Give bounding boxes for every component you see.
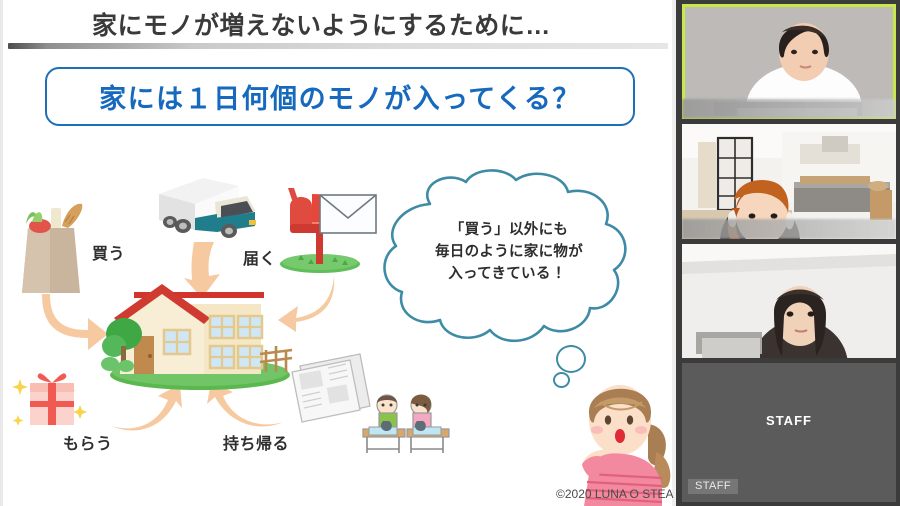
bubble-line-3: 入ってきている ！ [378, 264, 640, 286]
video-tile-participant-2[interactable] [682, 124, 896, 239]
question-text: 家には１日何個のモノが入ってくる？ [99, 77, 581, 116]
label-deliver: 届く [243, 245, 276, 269]
placeholder-center-label: STAFF [766, 413, 812, 428]
school-desk-children-illustration [355, 383, 457, 455]
video-tile-participant-3[interactable] [682, 244, 896, 359]
placeholder-name-badge: STAFF [688, 479, 738, 494]
label-receive: もらう [63, 430, 113, 454]
participant-1-name-blur [682, 99, 896, 119]
grocery-bag-illustration [10, 200, 92, 295]
envelope-illustration [318, 192, 378, 236]
copyright-notice: ©2020 LUNA O STEA [556, 487, 674, 501]
delivery-truck-illustration [155, 168, 265, 246]
thinking-girl-illustration [570, 368, 676, 506]
house-illustration [100, 272, 300, 392]
thought-bubble-tail-small [553, 372, 570, 388]
shared-slide[interactable]: 家にモノが増えないようにするために… 家には１日何個のモノが入ってくる？ [0, 0, 676, 506]
video-tile-participant-1[interactable] [682, 4, 896, 119]
thought-bubble-text: 「買う」以外にも 毎日のように家に物が 入ってきている ！ [378, 220, 640, 285]
video-tile-placeholder-staff[interactable]: STAFF STAFF [682, 363, 896, 502]
question-callout-box: 家には１日何個のモノが入ってくる？ [45, 67, 635, 126]
slide-left-edge [0, 0, 3, 506]
bubble-line-2: 毎日のように家に物が [378, 242, 640, 264]
bubble-line-1: 「買う」以外にも [378, 220, 640, 242]
screen-share-meeting-window: 家にモノが増えないようにするために… 家には１日何個のモノが入ってくる？ [0, 0, 900, 506]
title-divider [8, 43, 668, 49]
participant-3-video [682, 244, 896, 359]
slide-title: 家にモノが増えないようにするために… [92, 6, 551, 42]
label-buy: 買う [92, 240, 125, 264]
thought-bubble: 「買う」以外にも 毎日のように家に物が 入ってきている ！ [378, 168, 640, 356]
label-bring-home: 持ち帰る [223, 430, 289, 454]
participant-video-strip: STAFF STAFF [676, 0, 900, 506]
gift-box-illustration [12, 365, 90, 435]
participant-2-name-blur [682, 219, 896, 239]
